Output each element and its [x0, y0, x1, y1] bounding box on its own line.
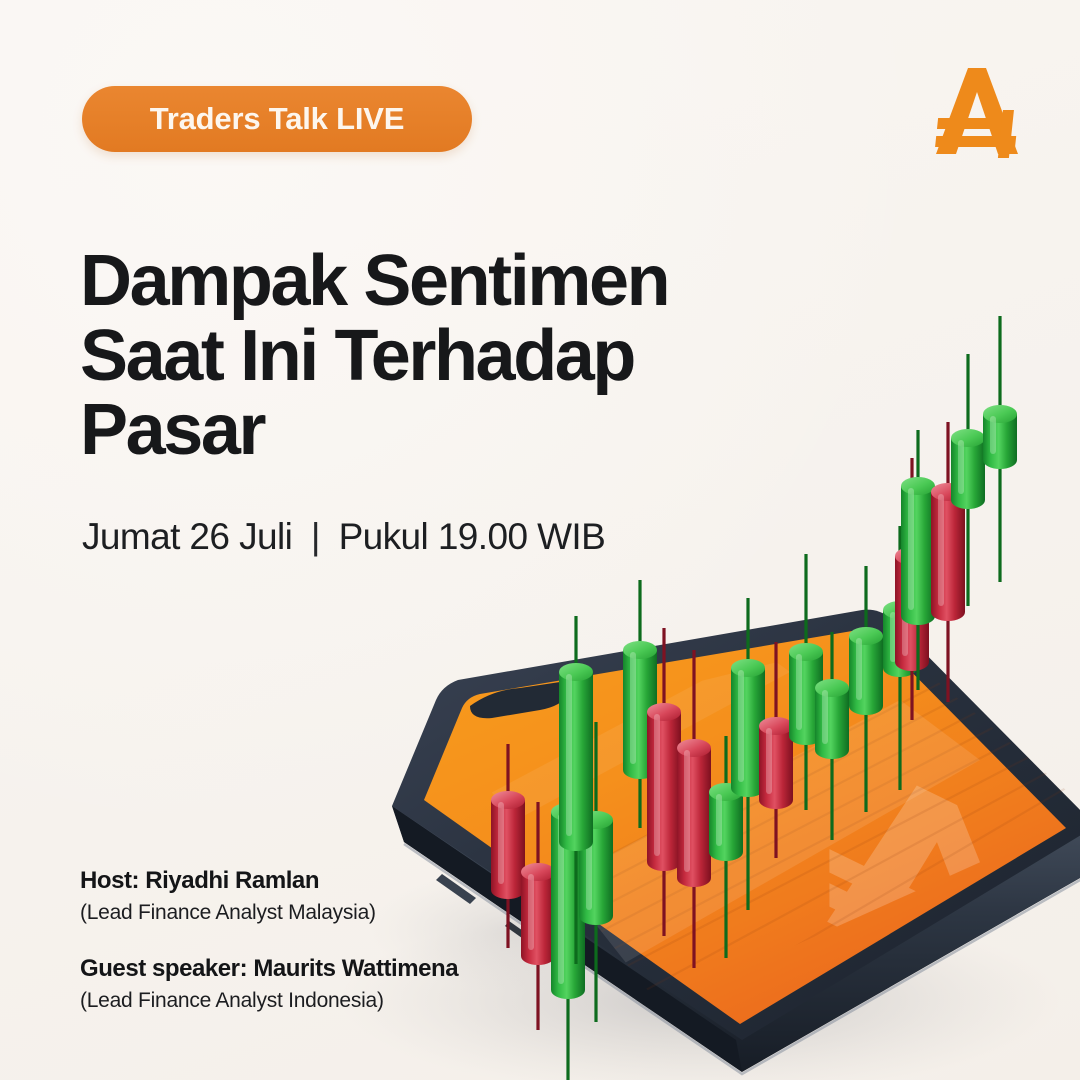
credit-host: Host: Riyadhi Ramlan (Lead Finance Analy…: [80, 866, 458, 926]
live-badge-label: Traders Talk LIVE: [150, 101, 404, 137]
ace-a-logo-icon: [928, 62, 1032, 162]
live-badge[interactable]: Traders Talk LIVE: [82, 86, 472, 152]
credit-host-role: (Lead Finance Analyst Malaysia): [80, 899, 458, 926]
headline-line-3: Pasar: [80, 393, 800, 468]
credit-guest-name: Guest speaker: Maurits Wattimena: [80, 954, 458, 984]
page-title: Dampak Sentimen Saat Ini Terhadap Pasar: [80, 244, 800, 468]
credit-guest-role: (Lead Finance Analyst Indonesia): [80, 987, 458, 1014]
schedule-time: Pukul 19.00 WIB: [339, 516, 606, 557]
credit-guest: Guest speaker: Maurits Wattimena (Lead F…: [80, 954, 458, 1014]
schedule-separator: |: [311, 516, 320, 558]
headline-line-1: Dampak Sentimen: [80, 244, 800, 319]
poster-canvas: Traders Talk LIVE Dampak Sentimen Saat I…: [0, 0, 1080, 1080]
headline-line-2: Saat Ini Terhadap: [80, 319, 800, 394]
credits-section: Host: Riyadhi Ramlan (Lead Finance Analy…: [80, 866, 458, 1015]
schedule-date: Jumat 26 Juli: [82, 516, 292, 557]
credit-host-name: Host: Riyadhi Ramlan: [80, 866, 458, 896]
schedule-line: Jumat 26 Juli | Pukul 19.00 WIB: [82, 516, 605, 558]
